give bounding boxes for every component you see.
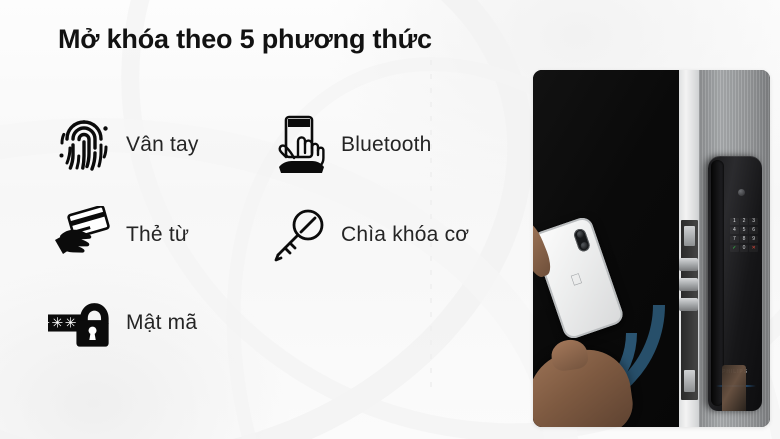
keypad-key: 2 xyxy=(740,218,749,225)
feature-item-empty xyxy=(263,280,518,365)
svg-text:✳: ✳ xyxy=(52,315,64,331)
deadbolt xyxy=(679,258,698,271)
lock-handle xyxy=(722,365,746,411)
feature-item-card: Thẻ từ xyxy=(48,190,263,280)
keypad-key: 1 xyxy=(730,218,739,225)
fingerprint-icon xyxy=(48,112,120,178)
promo-banner: Mở khóa theo 5 phương thức xyxy=(0,0,780,439)
keypad-key: 3 xyxy=(749,218,758,225)
keypad-key: 7 xyxy=(730,236,739,243)
phone-camera-icon xyxy=(572,227,591,253)
hand-holding-card-icon xyxy=(48,202,120,268)
hand-holding-phone-icon xyxy=(263,112,335,178)
keypad-cancel-key: ✕ xyxy=(749,245,758,252)
product-photo:  1 2 3 4 5 6 7 8 9 ✓ 0 xyxy=(533,70,770,427)
feature-label: Thẻ từ xyxy=(126,223,189,247)
keypad-key: 6 xyxy=(749,227,758,234)
feature-label: Bluetooth xyxy=(341,133,432,157)
feature-row: ✳✳✳ Mật mã xyxy=(48,280,518,365)
feature-item-passcode: ✳✳✳ Mật mã xyxy=(48,280,263,365)
feature-label: Vân tay xyxy=(126,133,199,157)
smart-door-lock: 1 2 3 4 5 6 7 8 9 ✓ 0 ✕ PHILIPS xyxy=(708,156,762,411)
feature-label: Mật mã xyxy=(126,311,197,335)
lock-keypad: 1 2 3 4 5 6 7 8 9 ✓ 0 ✕ xyxy=(730,218,758,252)
keypad-key: 8 xyxy=(740,236,749,243)
lock-sensor-icon xyxy=(738,189,745,196)
mechanical-key-icon xyxy=(263,202,335,268)
apple-logo-icon:  xyxy=(568,271,586,291)
strike-plate xyxy=(681,220,698,400)
feature-item-key: Chìa khóa cơ xyxy=(263,190,518,280)
keypad-key: 0 xyxy=(740,245,749,252)
keypad-key: 9 xyxy=(749,236,758,243)
keypad-confirm-key: ✓ xyxy=(730,245,739,252)
feature-list: Vân tay xyxy=(48,100,518,365)
keypad-key: 4 xyxy=(730,227,739,234)
feature-row: Vân tay xyxy=(48,100,518,190)
feature-row: Thẻ từ Chìa khóa cơ xyxy=(48,190,518,280)
feature-label: Chìa khóa cơ xyxy=(341,223,469,247)
svg-text:✳: ✳ xyxy=(48,315,50,331)
svg-text:✳: ✳ xyxy=(65,315,77,331)
deadbolt xyxy=(679,278,698,291)
page-title: Mở khóa theo 5 phương thức xyxy=(58,24,432,55)
password-padlock-icon: ✳✳✳ xyxy=(48,290,120,356)
feature-item-fingerprint: Vân tay xyxy=(48,100,263,190)
keypad-key: 5 xyxy=(740,227,749,234)
feature-item-bluetooth: Bluetooth xyxy=(263,100,518,190)
deadbolt xyxy=(679,298,698,311)
